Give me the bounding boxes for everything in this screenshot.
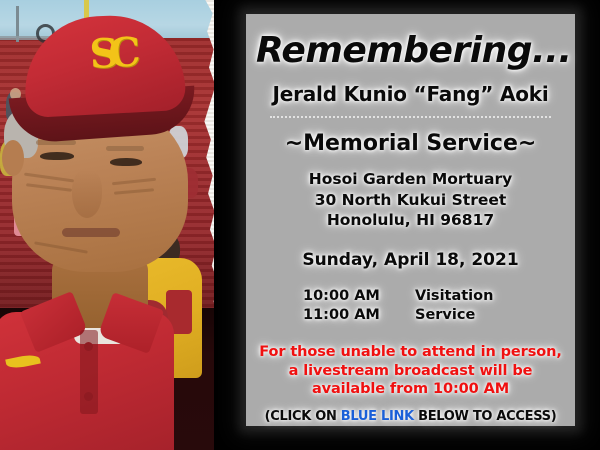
usc-sc-logo-icon: SC	[83, 29, 137, 80]
venue-block: Hosoi Garden Mortuary 30 North Kukui Str…	[256, 169, 565, 231]
schedule-list: 10:00 AM Visitation 11:00 AM Service	[303, 287, 518, 325]
livestream-note-line-2: a livestream broadcast will be	[256, 362, 565, 381]
ear	[2, 140, 24, 176]
livestream-note-line-1: For those unable to attend in person,	[256, 343, 565, 362]
eyebrow	[106, 146, 144, 151]
mouth	[62, 228, 120, 237]
venue-city-state-zip: Honolulu, HI 96817	[256, 210, 565, 231]
divider	[270, 116, 551, 118]
livestream-note-line-3: available from 10:00 AM	[256, 380, 565, 399]
nose	[72, 170, 102, 218]
schedule-label: Visitation	[415, 287, 518, 306]
venue-street: 30 North Kukui Street	[256, 190, 565, 211]
deceased-name: Jerald Kunio “Fang” Aoki	[256, 82, 565, 106]
schedule-time: 11:00 AM	[303, 306, 415, 325]
shirt-button	[84, 342, 93, 351]
schedule-row: 10:00 AM Visitation	[303, 287, 518, 306]
page-title: Remembering...	[256, 32, 565, 70]
service-heading: ~Memorial Service~	[256, 131, 565, 156]
memorial-photo: SC	[0, 0, 232, 450]
livestream-note: For those unable to attend in person, a …	[256, 343, 565, 399]
blue-link-label[interactable]: BLUE LINK	[341, 409, 414, 424]
schedule-time: 10:00 AM	[303, 287, 415, 306]
service-date: Sunday, April 18, 2021	[256, 250, 565, 270]
shirt-button	[84, 392, 93, 401]
eye	[40, 152, 74, 160]
click-instruction: (CLICK ON BLUE LINK BELOW TO ACCESS)	[256, 409, 565, 424]
announcement-card: Remembering... Jerald Kunio “Fang” Aoki …	[246, 14, 575, 426]
schedule-label: Service	[415, 306, 518, 325]
eye	[110, 158, 142, 166]
click-instruction-prefix: (CLICK ON	[265, 409, 341, 424]
photo-edge-mask	[214, 0, 232, 450]
venue-name: Hosoi Garden Mortuary	[256, 169, 565, 190]
memorial-announcement: SC Remembering... Jerald Kunio “Fang” Ao…	[0, 0, 600, 450]
click-instruction-suffix: BELOW TO ACCESS)	[414, 409, 557, 424]
schedule-row: 11:00 AM Service	[303, 306, 518, 325]
